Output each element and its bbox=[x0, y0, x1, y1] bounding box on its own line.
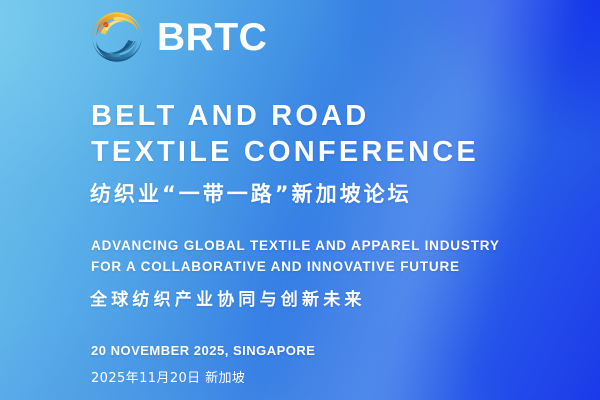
brtc-swirl-circle-logo-icon bbox=[86, 6, 148, 68]
subtitle-chinese: 纺织业“一带一路”新加坡论坛 bbox=[90, 180, 412, 208]
tagline-line-1: ADVANCING GLOBAL TEXTILE AND APPAREL IND… bbox=[91, 235, 500, 256]
tagline-chinese: 全球纺织产业协同与创新未来 bbox=[90, 288, 366, 312]
event-date-english: 20 NOVEMBER 2025, SINGAPORE bbox=[91, 342, 315, 360]
event-date-chinese: 2025年11月20日 新加坡 bbox=[91, 370, 245, 388]
poster-content: BRTC BELT AND ROAD TEXTILE CONFERENCE 纺织… bbox=[0, 0, 600, 400]
brand-name: BRTC bbox=[157, 18, 267, 57]
page-title: BELT AND ROAD TEXTILE CONFERENCE bbox=[91, 98, 479, 170]
tagline-line-2: FOR A COLLABORATIVE AND INNOVATIVE FUTUR… bbox=[91, 256, 500, 277]
tagline: ADVANCING GLOBAL TEXTILE AND APPAREL IND… bbox=[91, 235, 500, 277]
conference-poster: BRTC BELT AND ROAD TEXTILE CONFERENCE 纺织… bbox=[0, 0, 600, 400]
brand-lockup: BRTC bbox=[86, 6, 267, 68]
page-title-line-2: TEXTILE CONFERENCE bbox=[91, 134, 479, 170]
page-title-line-1: BELT AND ROAD bbox=[91, 98, 479, 134]
